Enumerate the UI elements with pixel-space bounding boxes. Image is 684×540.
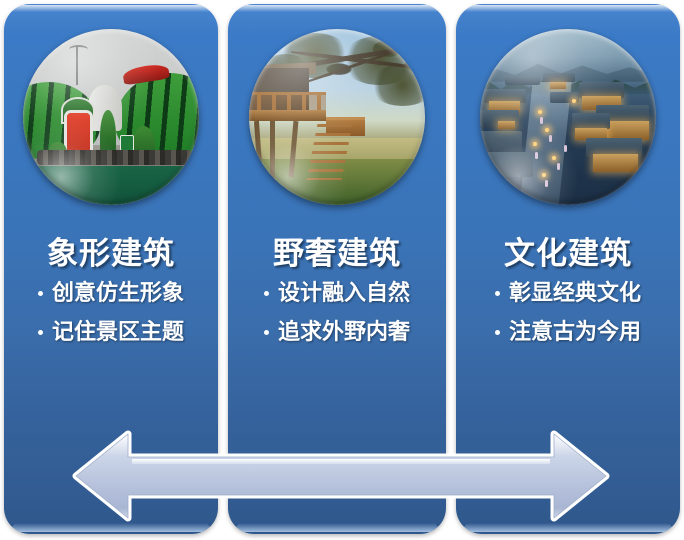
panel-3-title: 文化建筑 <box>456 228 680 273</box>
treehouse-photo <box>249 29 425 205</box>
bullet-text: 记住景区主题 <box>52 321 184 343</box>
list-item: 创意仿生形象 <box>12 282 210 304</box>
bullet-dot-icon <box>495 330 500 335</box>
panel-card-3[interactable]: 文化建筑 彰显经典文化 注意古为今用 <box>456 4 680 534</box>
bullet-dot-icon <box>264 291 269 296</box>
list-item: 注意古为今用 <box>464 321 672 343</box>
panel-2-photo <box>249 29 425 205</box>
list-item: 设计融入自然 <box>236 282 438 304</box>
panel-1-title: 象形建筑 <box>4 228 218 273</box>
list-item: 彰显经典文化 <box>464 282 672 304</box>
slide-canvas: 象形建筑 创意仿生形象 记住景区主题 <box>0 0 684 540</box>
bullet-text: 注意古为今用 <box>509 321 641 343</box>
bullet-text: 创意仿生形象 <box>52 282 184 304</box>
list-item: 追求外野内奢 <box>236 321 438 343</box>
panel-1-bullet-list: 创意仿生形象 记住景区主题 <box>12 282 210 360</box>
panel-1-photo <box>23 29 199 205</box>
list-item: 记住景区主题 <box>12 321 210 343</box>
panel-2-title: 野奢建筑 <box>228 228 446 273</box>
panel-3-photo <box>480 29 656 205</box>
panel-2-bullet-list: 设计融入自然 追求外野内奢 <box>236 282 438 360</box>
panel-card-2[interactable]: 野奢建筑 设计融入自然 追求外野内奢 <box>228 4 446 534</box>
cultural-town-night-photo <box>480 29 656 205</box>
bullet-dot-icon <box>38 291 43 296</box>
panel-3-bullet-list: 彰显经典文化 注意古为今用 <box>464 282 672 360</box>
bullet-text: 彰显经典文化 <box>509 282 641 304</box>
bullet-dot-icon <box>264 330 269 335</box>
bullet-dot-icon <box>495 291 500 296</box>
panel-card-1[interactable]: 象形建筑 创意仿生形象 记住景区主题 <box>4 4 218 534</box>
bullet-text: 设计融入自然 <box>278 282 410 304</box>
bullet-dot-icon <box>38 330 43 335</box>
watermelon-building-photo <box>23 29 199 205</box>
bullet-text: 追求外野内奢 <box>278 321 410 343</box>
